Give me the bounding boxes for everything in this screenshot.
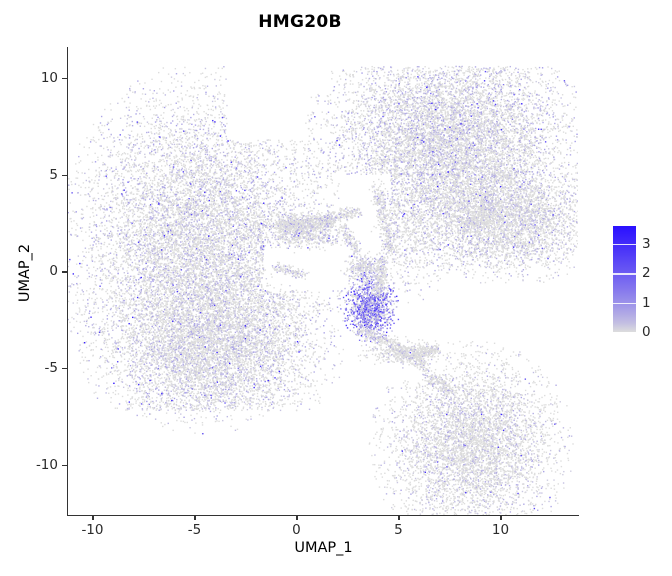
y-tick-label: -5 xyxy=(45,360,58,376)
colorbar-tick xyxy=(613,244,636,246)
x-tick-label: 10 xyxy=(492,522,509,538)
y-axis-line xyxy=(67,47,68,516)
page-title: HMG20B xyxy=(0,12,600,32)
colorbar-gradient xyxy=(613,226,636,332)
colorbar-tick-label: 1 xyxy=(642,295,651,311)
colorbar-tick xyxy=(613,273,636,275)
y-tick xyxy=(62,271,67,272)
x-tick-label: -5 xyxy=(188,522,201,538)
colorbar-tick-label: 3 xyxy=(642,236,651,252)
x-tick xyxy=(194,515,195,520)
x-tick-label: 5 xyxy=(394,522,403,538)
scatter-canvas xyxy=(68,47,578,515)
colorbar-tick-label: 0 xyxy=(642,324,651,340)
y-tick xyxy=(62,368,67,369)
x-tick xyxy=(500,515,501,520)
x-tick xyxy=(398,515,399,520)
y-tick xyxy=(62,78,67,79)
colorbar-legend: 0123 xyxy=(613,226,669,336)
y-tick-label: 0 xyxy=(49,263,58,279)
y-tick xyxy=(62,175,67,176)
x-axis-label: UMAP_1 xyxy=(68,540,579,556)
y-tick xyxy=(62,465,67,466)
x-tick-label: -10 xyxy=(81,522,103,538)
colorbar-tick xyxy=(613,303,636,305)
y-tick-label: 5 xyxy=(49,167,58,183)
y-tick-label: -10 xyxy=(36,457,58,473)
x-tick-label: 0 xyxy=(292,522,301,538)
feature-plot-figure: HMG20B -10-50510 -10-50510 UMAP_1 UMAP_2… xyxy=(0,0,672,576)
colorbar-tick-label: 2 xyxy=(642,265,651,281)
y-tick-label: 10 xyxy=(41,70,58,86)
x-tick xyxy=(296,515,297,520)
colorbar-tick xyxy=(613,332,636,334)
x-axis-line xyxy=(68,515,579,516)
y-axis-label: UMAP_2 xyxy=(17,193,33,353)
x-tick xyxy=(92,515,93,520)
plot-panel xyxy=(68,47,578,515)
